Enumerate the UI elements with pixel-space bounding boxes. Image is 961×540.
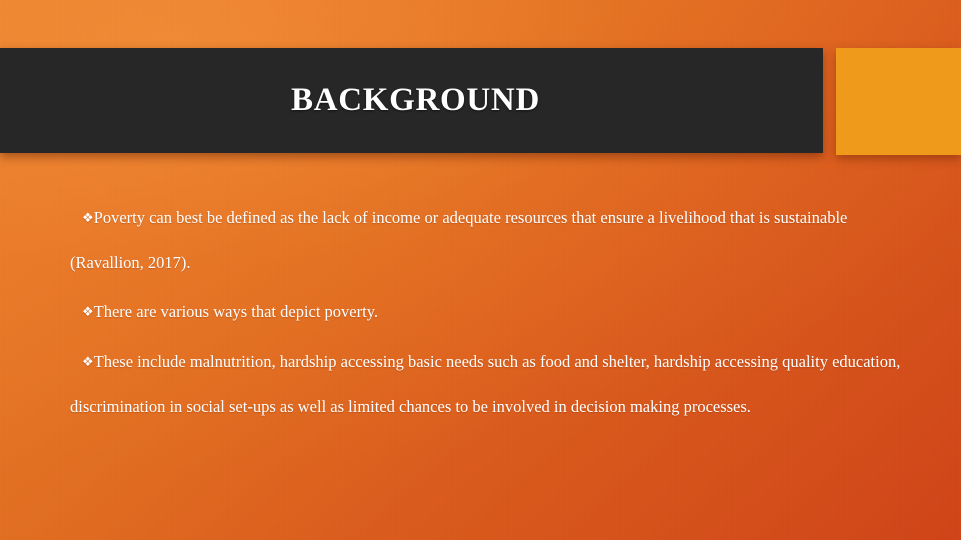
list-item: ❖These include malnutrition, hardship ac… <box>70 340 903 429</box>
title-bar: BACKGROUND <box>0 48 823 153</box>
list-item: ❖There are various ways that depict pove… <box>70 290 903 335</box>
page-title: BACKGROUND <box>291 84 540 117</box>
list-item-text: Poverty can best be defined as the lack … <box>70 208 847 272</box>
list-item-text: There are various ways that depict pover… <box>94 302 378 321</box>
diamond-cluster-bullet-icon: ❖ <box>82 305 94 320</box>
accent-block <box>836 48 961 155</box>
body-content: ❖Poverty can best be defined as the lack… <box>0 196 961 429</box>
list-item-text: These include malnutrition, hardship acc… <box>70 352 900 416</box>
diamond-cluster-bullet-icon: ❖ <box>82 355 94 370</box>
slide-canvas: BACKGROUND ❖Poverty can best be defined … <box>0 0 961 540</box>
list-item: ❖Poverty can best be defined as the lack… <box>70 196 903 285</box>
diamond-cluster-bullet-icon: ❖ <box>82 211 94 226</box>
